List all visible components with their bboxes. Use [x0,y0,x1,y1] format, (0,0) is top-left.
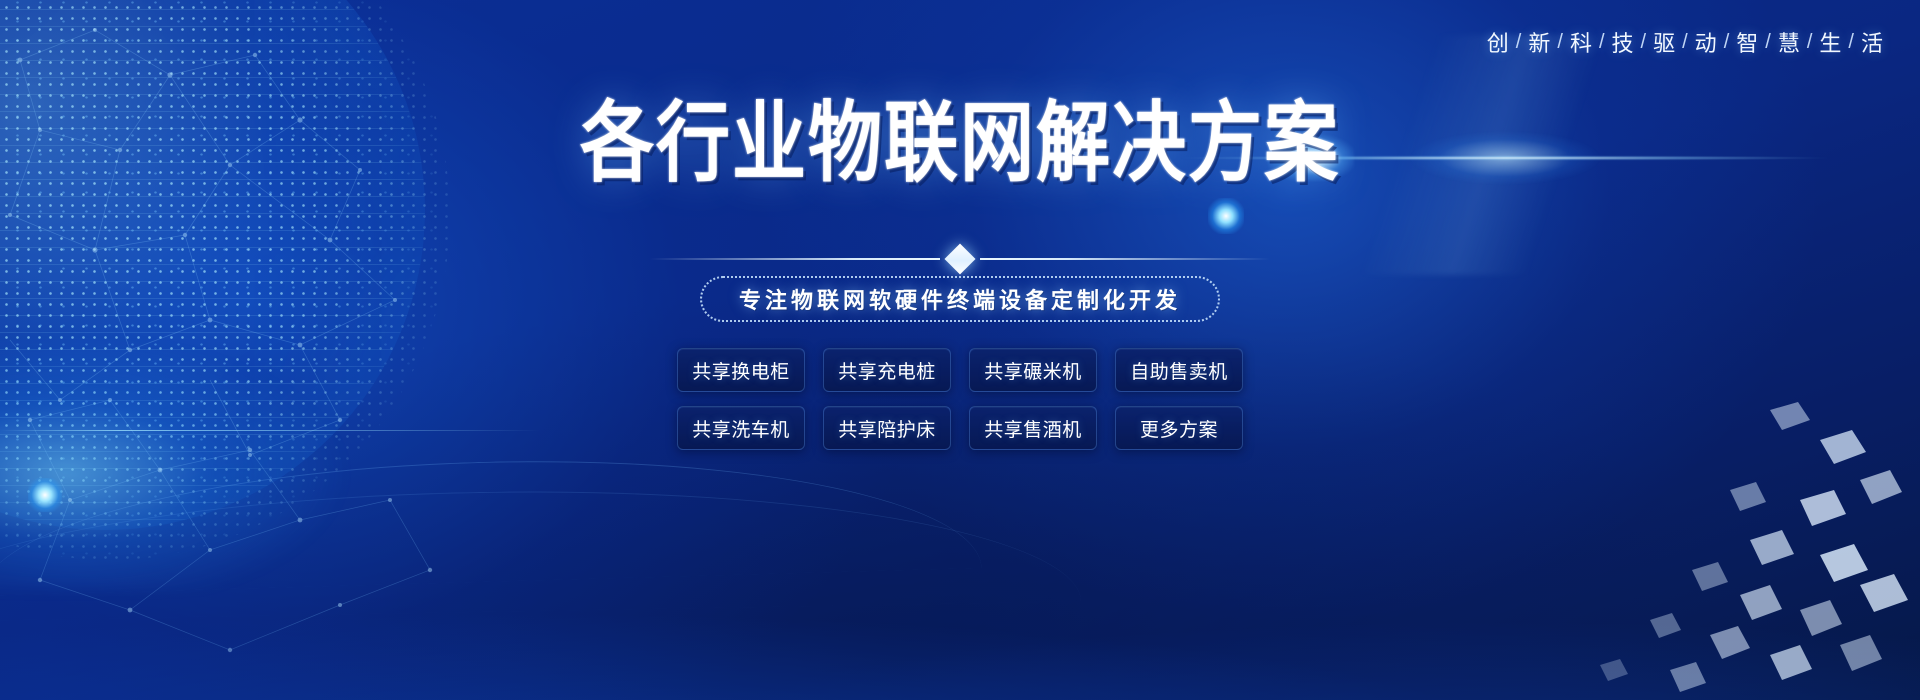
tagline-separator: / [1557,31,1564,54]
divider-line-right [980,258,1270,260]
tagline-char: 驱 [1647,26,1682,58]
floating-cubes-decoration [1300,370,1920,700]
tagline-separator: / [1724,31,1731,54]
tagline-separator: / [1807,31,1814,54]
title-divider [650,248,1270,270]
solution-button-car-wash[interactable]: 共享洗车机 [677,406,805,450]
tagline-separator: / [1641,31,1648,54]
solution-button-vending-machine[interactable]: 自助售卖机 [1115,348,1243,392]
tagline-separator: / [1682,31,1689,54]
diamond-icon [944,243,975,274]
tagline-separator: / [1516,31,1523,54]
solution-button-charging-pile[interactable]: 共享充电桩 [823,348,951,392]
solution-buttons-row-1: 共享换电柜 共享充电桩 共享碾米机 自助售卖机 [660,348,1260,392]
subtitle-text: 专注物联网软硬件终端设备定制化开发 [739,283,1181,315]
solution-buttons-group: 共享换电柜 共享充电桩 共享碾米机 自助售卖机 共享洗车机 共享陪护床 共享售酒… [660,348,1260,464]
tagline-char: 活 [1855,26,1890,58]
horizon-line-decoration [0,430,540,431]
solution-button-rice-mill[interactable]: 共享碾米机 [969,348,1097,392]
subtitle-pill: 专注物联网软硬件终端设备定制化开发 [700,276,1220,322]
tagline-char: 生 [1813,26,1848,58]
tagline-char: 新 [1522,26,1557,58]
tagline-separator: / [1599,31,1606,54]
tagline-separator: / [1765,31,1772,54]
tagline-char: 智 [1730,26,1765,58]
page-title: 各行业物联网解决方案 [0,100,1920,187]
glow-orb-right-decoration [1208,198,1244,234]
tagline-char: 创 [1481,26,1516,58]
tagline-char: 科 [1564,26,1599,58]
tagline-separator: / [1848,31,1855,54]
solution-button-more[interactable]: 更多方案 [1115,406,1243,450]
divider-line-left [650,258,940,260]
tagline-char: 动 [1689,26,1724,58]
hero-banner: 创 / 新 / 科 / 技 / 驱 / 动 / 智 / 慧 / 生 / 活 各行… [0,0,1920,700]
tagline-char: 慧 [1772,26,1807,58]
tagline: 创 / 新 / 科 / 技 / 驱 / 动 / 智 / 慧 / 生 / 活 [1481,26,1890,58]
tagline-char: 技 [1606,26,1641,58]
solution-button-battery-cabinet[interactable]: 共享换电柜 [677,348,805,392]
solution-button-wine-vending[interactable]: 共享售酒机 [969,406,1097,450]
solution-buttons-row-2: 共享洗车机 共享陪护床 共享售酒机 更多方案 [660,406,1260,450]
solution-button-nursing-bed[interactable]: 共享陪护床 [823,406,951,450]
